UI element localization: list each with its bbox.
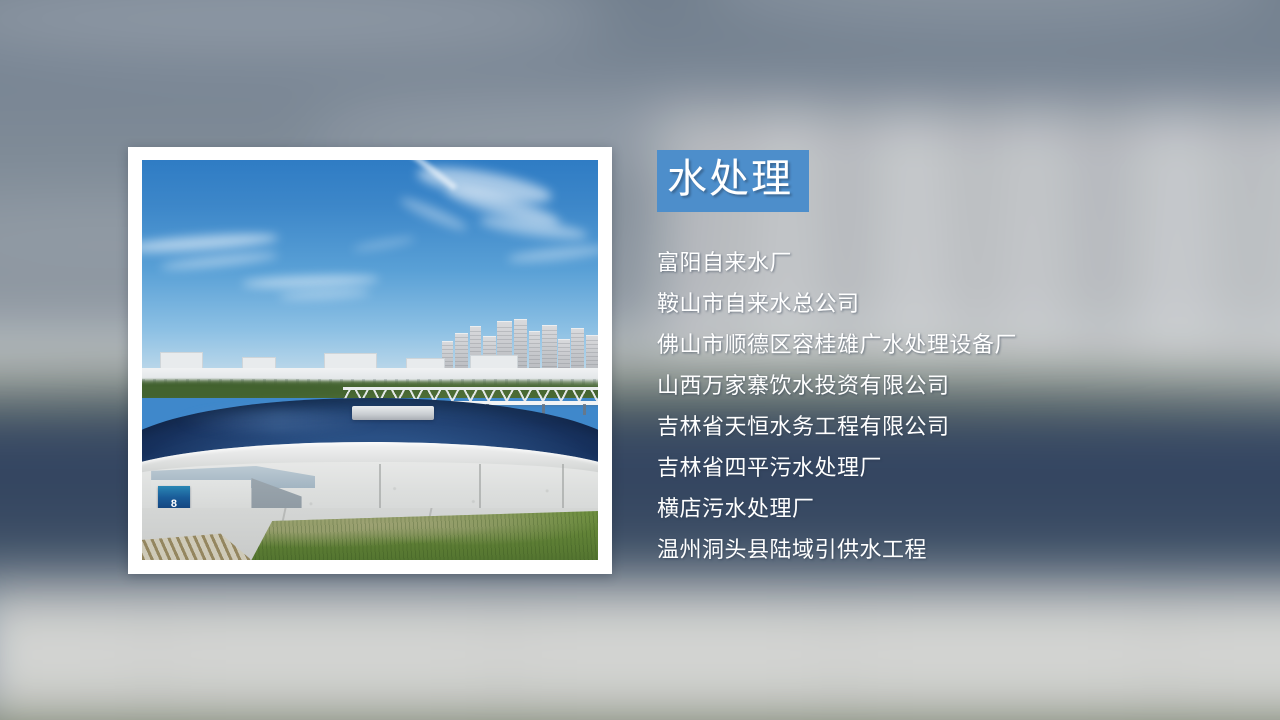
plant-photo: 8 沉淀池 [142,160,598,560]
list-item: 横店污水处理厂 [657,488,1257,529]
page-title: 水处理 [667,156,793,202]
customer-list: 富阳自来水厂 鞍山市自来水总公司 佛山市顺德区容桂雄广水处理设备厂 山西万家寨饮… [657,242,1257,570]
tank-platform [352,406,434,420]
list-item: 温州洞头县陆域引供水工程 [657,529,1257,570]
list-item: 吉林省天恒水务工程有限公司 [657,406,1257,447]
background-wall [0,584,1280,720]
photo-card: 8 沉淀池 [128,147,612,574]
list-item: 佛山市顺德区容桂雄广水处理设备厂 [657,324,1257,365]
list-item: 山西万家寨饮水投资有限公司 [657,365,1257,406]
list-item: 鞍山市自来水总公司 [657,283,1257,324]
content-column: 水处理 富阳自来水厂 鞍山市自来水总公司 佛山市顺德区容桂雄广水处理设备厂 山西… [657,150,1257,570]
slide-root: 8 沉淀池 水处理 富阳自来水厂 鞍山市自来水总公司 佛山市顺德区容桂雄广水处理… [0,0,1280,720]
list-item: 富阳自来水厂 [657,242,1257,283]
list-item: 吉林省四平污水处理厂 [657,447,1257,488]
title-badge: 水处理 [657,150,809,212]
